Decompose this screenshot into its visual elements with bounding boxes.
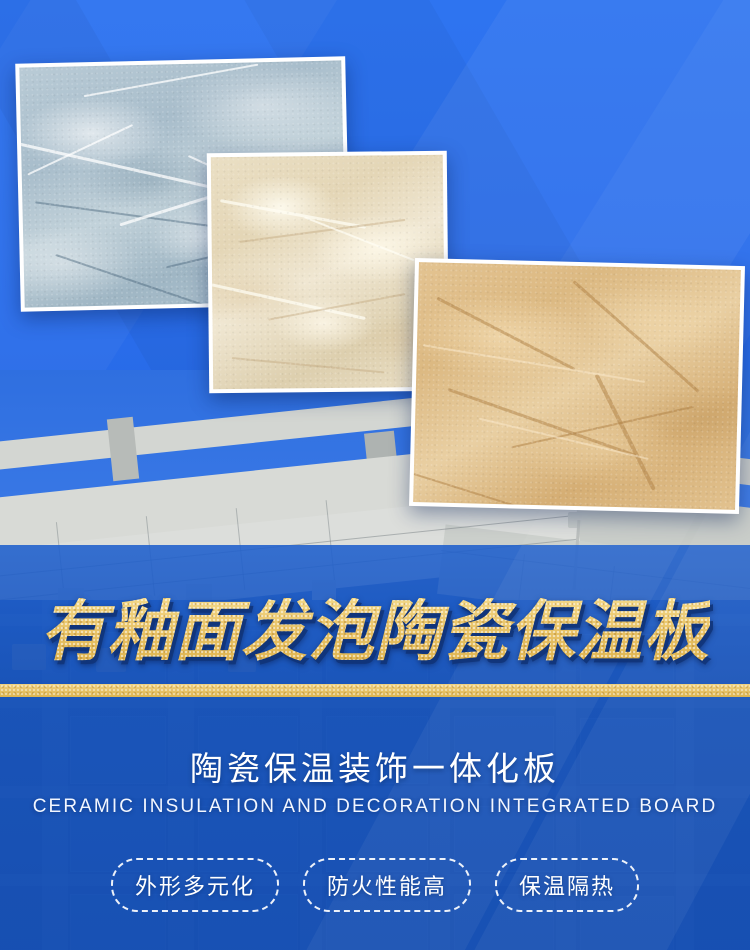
headline-block: 有釉面发泡陶瓷保温板 <box>0 588 750 674</box>
tile-texture <box>211 155 445 389</box>
subtitle-english: CERAMIC INSULATION AND DECORATION INTEGR… <box>0 796 750 818</box>
gold-divider-rule <box>0 684 750 697</box>
feature-tag-list: 外形多元化 防火性能高 保温隔热 <box>0 858 750 912</box>
tile-texture <box>413 262 741 510</box>
headline-text: 有釉面发泡陶瓷保温板 <box>40 598 710 664</box>
product-banner: 有釉面发泡陶瓷保温板 陶瓷保温装饰一体化板 CERAMIC INSULATION… <box>0 0 750 950</box>
feature-tag[interactable]: 防火性能高 <box>303 858 471 912</box>
texture-grain <box>413 262 741 510</box>
feature-tag[interactable]: 保温隔热 <box>495 858 639 912</box>
feature-tag[interactable]: 外形多元化 <box>111 858 279 912</box>
texture-grain <box>211 155 445 389</box>
tile-sample-tan-marble[interactable] <box>409 258 745 514</box>
subtitle-chinese: 陶瓷保温装饰一体化板 <box>0 742 750 790</box>
